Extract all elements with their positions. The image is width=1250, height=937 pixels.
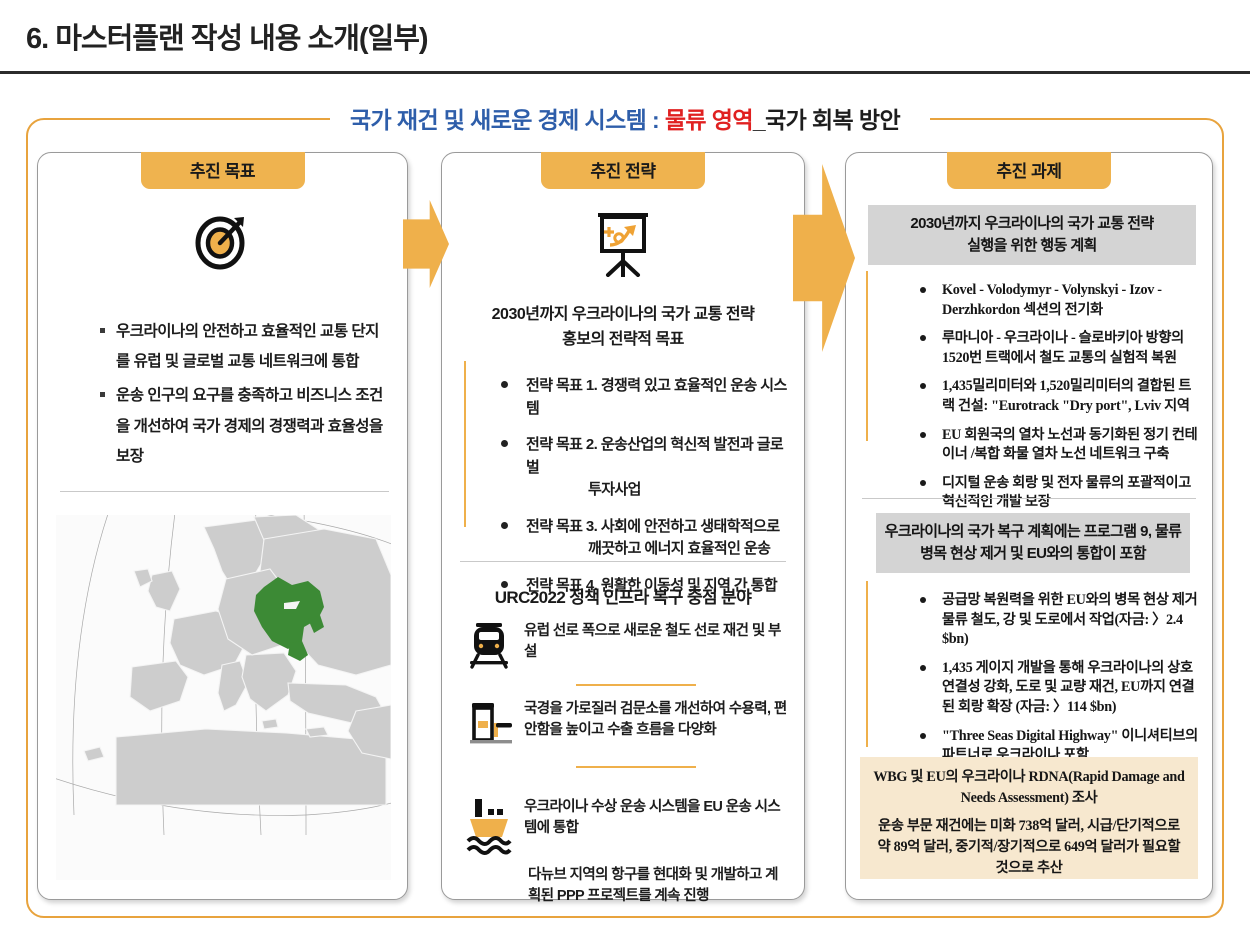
strategy-item-indent: 깨끗하고 에너지 효율적인 운송 (526, 538, 790, 561)
task-gray-box-2: 우크라이나의 국가 복구 계획에는 프로그램 9, 물류 병목 현상 제거 및 … (876, 513, 1190, 573)
rdna-lead: WBG 및 EU의 우크라이나 RDNA(Rapid Damage and Ne… (872, 767, 1186, 810)
border-checkpoint-icon (466, 699, 512, 752)
banner-title-red: 물류 영역 (665, 107, 753, 133)
train-icon (466, 621, 512, 674)
list-item: 1,435 게이지 개발을 통해 우크라이나의 상호 연결성 강화, 도로 및 … (914, 659, 1200, 718)
task-gray-box-1: 2030년까지 우크라이나의 국가 교통 전략 실행을 위한 행동 계획 (868, 205, 1196, 265)
rdna-cream-box: WBG 및 EU의 우크라이나 RDNA(Rapid Damage and Ne… (860, 757, 1198, 879)
column-task-tab: 추진 과제 (947, 152, 1111, 189)
list-item: 공급망 복원력을 위한 EU와의 병목 현상 제거 물류 철도, 강 및 도로에… (914, 591, 1200, 650)
task-gray-box-2-line1: 우크라이나의 국가 복구 계획에는 프로그램 9, 물류 (882, 521, 1184, 543)
goal-bullet-list: 우크라이나의 안전하고 효율적인 교통 단지를 유럽 및 글로벌 교통 네트워크… (60, 317, 391, 476)
column-goal-tab: 추진 목표 (141, 152, 305, 189)
urc-row-train: 유럽 선로 폭으로 새로운 철도 선로 재건 및 부설 (466, 621, 790, 674)
list-item: 루마니아 - 우크라이나 - 슬로바키아 방향의 1520번 트랙에서 철도 교… (914, 329, 1200, 368)
banner-title-dark: _국가 회복 방안 (753, 107, 900, 133)
page-title: 6. 마스터플랜 작성 내용 소개(일부) (26, 15, 428, 57)
rdna-body: 운송 부문 재건에는 미화 738억 달러, 시급/단기적으로 약 89억 달러… (878, 818, 1181, 877)
task-list-1: Kovel - Volodymyr - Volynskyi - Izov - D… (874, 281, 1200, 522)
europe-map (56, 515, 391, 880)
target-icon (188, 205, 258, 280)
list-item: 운송 인구의 요구를 충족하고 비즈니스 조건을 개선하여 국가 경제의 경쟁력… (100, 381, 391, 472)
task-divider (862, 498, 1196, 499)
ship-icon (466, 797, 512, 864)
list-item: 전략 목표 1. 경쟁력 있고 효율적인 운송 시스템 (500, 375, 790, 420)
urc-row-danube: 다뉴브 지역의 항구를 현대화 및 개발하고 계획된 PPP 프로젝트를 계속 … (528, 865, 790, 907)
strategy-heading-line2: 홍보의 전략적 목표 (460, 328, 786, 353)
list-item: 전략 목표 3. 사회에 안전하고 생태학적으로 깨끗하고 에너지 효율적인 운… (500, 516, 790, 561)
task-gray-box-2-line2: 병목 현상 제거 및 EU와의 통합이 포함 (882, 543, 1184, 565)
list-item: EU 회원국의 열차 노선과 동기화된 정기 컨테이너 /복합 화물 열차 노선… (914, 426, 1200, 465)
banner-title: 국가 재건 및 새로운 경제 시스템 : 물류 영역_국가 회복 방안 (0, 101, 1250, 135)
strategy-item-main: 전략 목표 3. 사회에 안전하고 생태학적으로 (526, 518, 780, 535)
list-item: 1,435밀리미터와 1,520밀리미터의 결합된 트랙 건설: "Eurotr… (914, 377, 1200, 416)
list-item: 우크라이나의 안전하고 효율적인 교통 단지를 유럽 및 글로벌 교통 네트워크… (100, 317, 391, 377)
column-strategy-tab: 추진 전략 (541, 152, 705, 189)
urc-row-ship: 우크라이나 수상 운송 시스템을 EU 운송 시스템에 통합 (466, 797, 790, 864)
task-gray-box-1-line2: 실행을 위한 행동 계획 (874, 235, 1190, 257)
list-item: 디지털 운송 회랑 및 전자 물류의 포괄적이고 혁신적인 개발 보장 (914, 474, 1200, 513)
column-goal: 추진 목표 우크라이나의 안전하고 효율적인 교통 단지를 유럽 및 글로벌 교… (37, 152, 408, 900)
urc-heading: URC2022 정책 인프라 복구 중점 분야 (442, 583, 804, 608)
column-strategy: 추진 전략 2030년까지 우크라이나의 국가 교통 전략 홍보의 전략적 목표… (441, 152, 805, 900)
strategy-item-main: 전략 목표 1. 경쟁력 있고 효율적인 운송 시스템 (526, 377, 787, 417)
list-item: Kovel - Volodymyr - Volynskyi - Izov - D… (914, 281, 1200, 320)
strategy-heading: 2030년까지 우크라이나의 국가 교통 전략 홍보의 전략적 목표 (460, 303, 786, 353)
banner-title-blue: 국가 재건 및 새로운 경제 시스템 : (350, 107, 665, 133)
strategy-item-indent: 투자사업 (526, 479, 790, 502)
strategy-list: 전략 목표 1. 경쟁력 있고 효율적인 운송 시스템 전략 목표 2. 운송산… (460, 375, 790, 611)
strategy-item-main: 전략 목표 2. 운송산업의 혁신적 발전과 글로벌 (526, 436, 783, 476)
task-rail-1 (866, 271, 868, 441)
slide-header: 6. 마스터플랜 작성 내용 소개(일부) (0, 0, 1250, 74)
urc-row-text: 우크라이나 수상 운송 시스템을 EU 운송 시스템에 통합 (524, 797, 790, 839)
presentation-chart-icon (588, 205, 658, 282)
urc-row-checkpoint: 국경을 가로질러 검문소를 개선하여 수용력, 편안함을 높이고 수출 흐름을 … (466, 699, 790, 752)
urc-row-text: 다뉴브 지역의 항구를 현대화 및 개발하고 계획된 PPP 프로젝트를 계속 … (528, 865, 790, 907)
task-gray-box-1-line1: 2030년까지 우크라이나의 국가 교통 전략 (874, 213, 1190, 235)
list-item: 전략 목표 2. 운송산업의 혁신적 발전과 글로벌 투자사업 (500, 434, 790, 502)
urc-divider (460, 561, 786, 562)
column-task: 추진 과제 2030년까지 우크라이나의 국가 교통 전략 실행을 위한 행동 … (845, 152, 1213, 900)
strategy-heading-line1: 2030년까지 우크라이나의 국가 교통 전략 (460, 303, 786, 328)
urc-separator-1 (576, 684, 696, 686)
task-rail-2 (866, 581, 868, 747)
urc-separator-2 (576, 766, 696, 768)
urc-row-text: 국경을 가로질러 검문소를 개선하여 수용력, 편안함을 높이고 수출 흐름을 … (524, 699, 790, 741)
goal-divider (60, 491, 389, 492)
urc-row-text: 유럽 선로 폭으로 새로운 철도 선로 재건 및 부설 (524, 621, 790, 663)
